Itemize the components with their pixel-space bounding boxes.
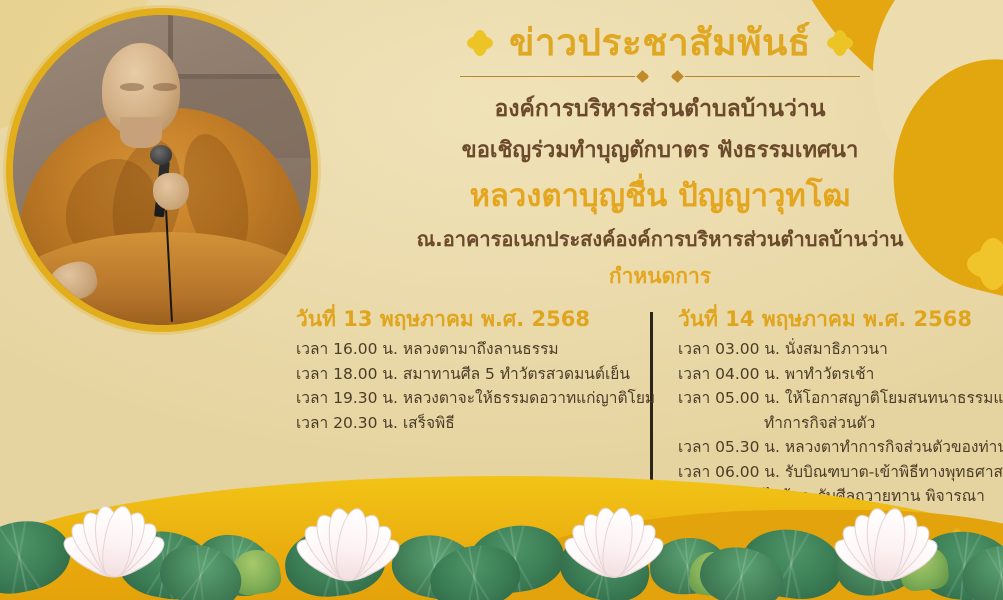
agenda-heading: กำหนดการ	[330, 260, 990, 293]
invitation-text: ขอเชิญร่วมทำบุญตักบาตร ฟังธรรมเทศนา	[330, 137, 990, 166]
lotus-flower-icon	[260, 486, 433, 598]
schedule-item: เวลา 05.00 น. ให้โอกาสญาติโยมสนทนาธรรมแล…	[678, 386, 1003, 410]
clover-left-icon	[467, 30, 493, 56]
eyebrow	[153, 83, 177, 90]
monk-portrait	[6, 8, 318, 332]
title-row: ข่าวประชาสัมพันธ์	[330, 22, 990, 65]
poster-header: ข่าวประชาสัมพันธ์ องค์การบริหารส่วนตำบลบ…	[330, 22, 990, 293]
portrait-gold-ring	[6, 8, 318, 332]
schedule-item: เวลา 04.00 น. พาทำวัตรเช้า	[678, 362, 1003, 386]
schedule-item: เวลา 18.00 น. สมาทานศีล 5 ทำวัตรสวดมนต์เ…	[296, 362, 644, 386]
lotus-flower-icon	[530, 486, 697, 594]
schedule-item: เวลา 19.30 น. หลวงตาจะให้ธรรมดอวาทแก่ญาต…	[296, 386, 644, 410]
title-divider-ornament	[460, 70, 860, 84]
schedule-item: เวลา 16.00 น. หลวงตามาถึงลานธรรม	[296, 337, 644, 361]
divider-line-left	[460, 76, 635, 78]
announcement-poster: ข่าวประชาสัมพันธ์ องค์การบริหารส่วนตำบลบ…	[0, 0, 1003, 600]
schedule-list-day1: เวลา 16.00 น. หลวงตามาถึงลานธรรม เวลา 18…	[296, 337, 644, 435]
page-title: ข่าวประชาสัมพันธ์	[509, 22, 811, 65]
lotus-flower-icon	[798, 486, 971, 598]
schedule-date-day2: วันที่ 14 พฤษภาคม พ.ศ. 2568	[678, 306, 1003, 332]
monk-neck	[120, 117, 162, 148]
eyebrow	[120, 83, 144, 90]
schedule-item: เวลา 05.30 น. หลวงตาทำการกิจส่วนตัวของท่…	[678, 435, 1003, 459]
quatrefoil-ornament-right-icon	[967, 238, 1003, 290]
clover-right-icon	[827, 30, 853, 56]
divider-line-right	[685, 76, 860, 78]
schedule-item: เวลา 20.30 น. เสร็จพิธี	[296, 411, 644, 435]
schedule-date-day1: วันที่ 13 พฤษภาคม พ.ศ. 2568	[296, 306, 644, 332]
monk-hand-holding-mic	[153, 173, 189, 210]
organization-name: องค์การบริหารส่วนตำบลบ้านว่าน	[330, 95, 990, 125]
monk-name: หลวงตาบุญชื่น ปัญญาวุทโฒ	[330, 178, 990, 215]
schedule-item: เวลา 06.00 น. รับบิณฑบาต-เข้าพิธีทางพุทธ…	[678, 460, 1003, 484]
schedule-item: เวลา 03.00 น. นั่งสมาธิภาวนา	[678, 337, 1003, 361]
schedule-item-continuation: ทำการกิจส่วนตัว	[678, 411, 1003, 435]
portrait-photo	[13, 15, 311, 325]
venue-text: ณ.อาคารอเนกประสงค์องค์การบริหารส่วนตำบลบ…	[330, 226, 990, 252]
